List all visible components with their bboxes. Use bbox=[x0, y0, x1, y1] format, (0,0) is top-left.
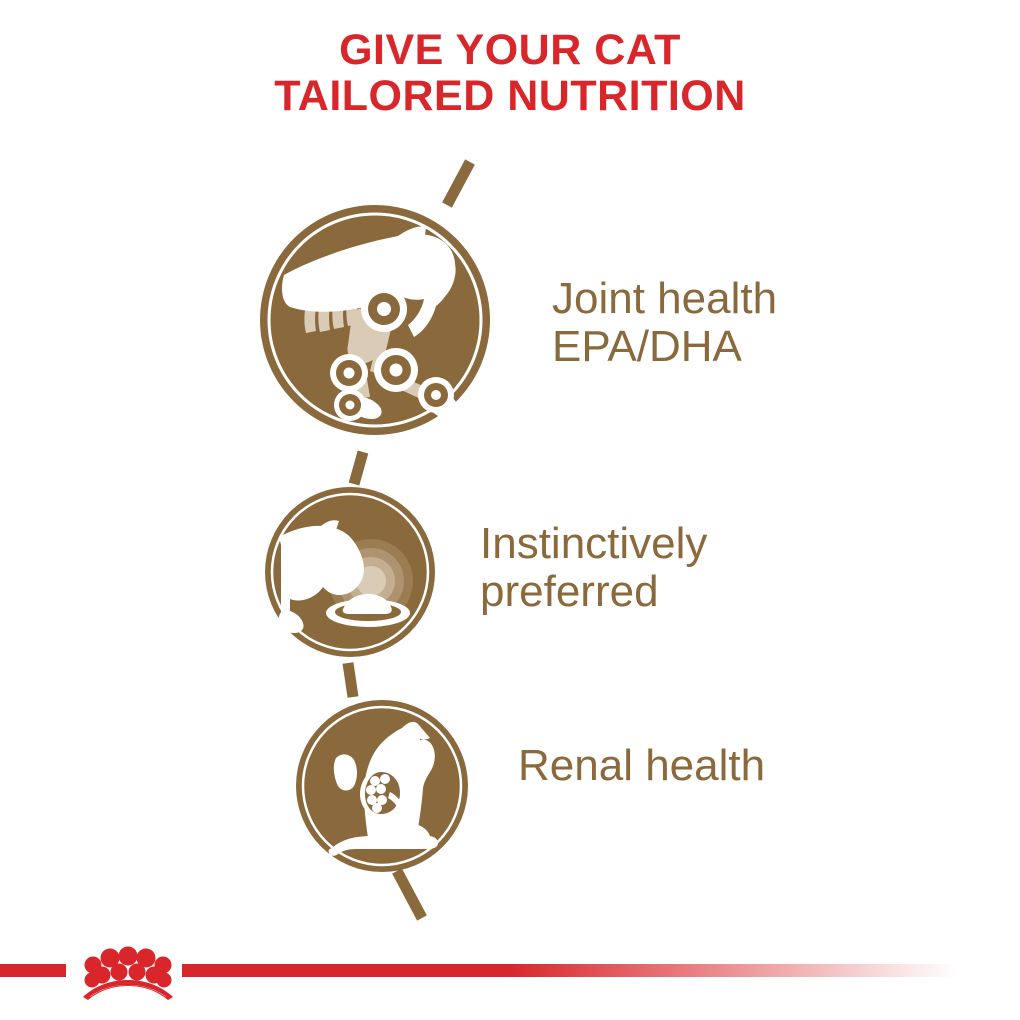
benefit-2-line-1: Instinctively bbox=[480, 520, 707, 568]
poster-root: GIVE YOUR CAT TAILORED NUTRITION bbox=[0, 0, 1020, 1020]
benefit-3-line-1: Renal health bbox=[518, 742, 765, 790]
footer-rule-left bbox=[0, 964, 66, 977]
footer bbox=[0, 920, 1020, 1020]
benefit-label-joint-health: Joint health EPA/DHA bbox=[552, 275, 777, 370]
benefit-1-line-1: Joint health bbox=[552, 275, 777, 323]
royal-canin-crown-logo bbox=[68, 944, 180, 1000]
cat-joint-skeleton-icon bbox=[258, 203, 492, 437]
connector-dashed-path bbox=[0, 0, 1020, 1020]
footer-rule-right bbox=[182, 964, 957, 977]
benefit-label-renal-health: Renal health bbox=[518, 742, 765, 790]
benefit-2-line-2: preferred bbox=[480, 568, 707, 616]
benefit-label-instinctively-preferred: Instinctively preferred bbox=[480, 520, 707, 615]
title-line-1: GIVE YOUR CAT bbox=[0, 28, 1020, 74]
benefit-1-line-2: EPA/DHA bbox=[552, 323, 777, 371]
cat-eating-bowl-aroma-icon bbox=[263, 485, 437, 659]
cat-kidney-renal-icon bbox=[294, 698, 470, 874]
title-line-2: TAILORED NUTRITION bbox=[0, 74, 1020, 120]
page-title: GIVE YOUR CAT TAILORED NUTRITION bbox=[0, 28, 1020, 119]
